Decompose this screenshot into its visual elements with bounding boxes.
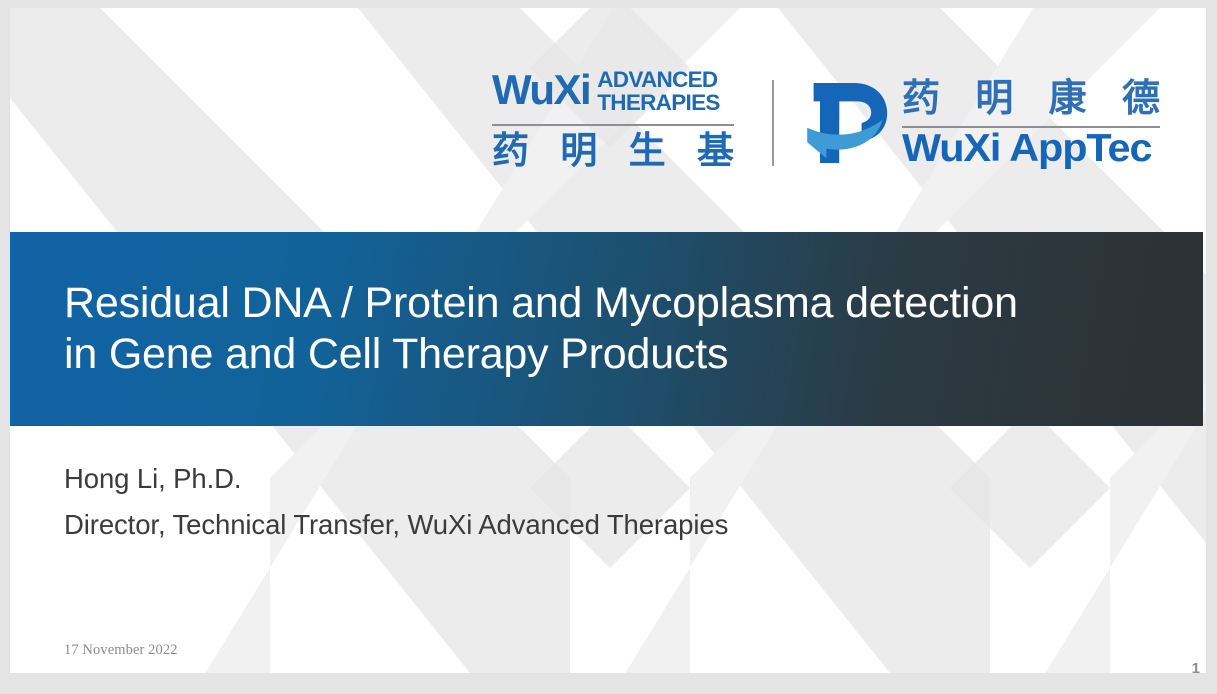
logo-group: WuXi ADVANCED THERAPIES 药 明 生 基	[480, 64, 1160, 182]
apptec-cn-char-3: 康	[1049, 74, 1087, 122]
page-title: Residual DNA / Protein and Mycoplasma de…	[10, 278, 1058, 380]
wat-cn-char-3: 生	[629, 127, 666, 175]
wuxi-advanced-therapies-logo: WuXi ADVANCED THERAPIES 药 明 生 基	[480, 67, 742, 179]
wat-chinese-name: 药 明 生 基	[492, 127, 734, 175]
logo-bar: WuXi ADVANCED THERAPIES 药 明 生 基	[10, 8, 1206, 232]
wat-subtitle-line2: THERAPIES	[597, 90, 719, 115]
apptec-cn-char-1: 药	[902, 74, 940, 122]
title-line-2: in Gene and Cell Therapy Products	[64, 330, 728, 378]
slide-page-number: 1	[1192, 660, 1200, 673]
presenter-role: Director, Technical Transfer, WuXi Advan…	[64, 502, 1064, 548]
presenter-block: Hong Li, Ph.D. Director, Technical Trans…	[64, 456, 1064, 548]
title-banner: Residual DNA / Protein and Mycoplasma de…	[10, 232, 1203, 426]
title-line-1: Residual DNA / Protein and Mycoplasma de…	[64, 279, 1018, 327]
wat-subtitle-line1: ADVANCED	[597, 67, 717, 92]
apptec-text-block: 药 明 康 德 WuXi AppTec	[902, 74, 1160, 172]
slide-viewport: WuXi ADVANCED THERAPIES 药 明 生 基	[0, 0, 1217, 694]
apptec-chinese-name: 药 明 康 德	[902, 74, 1160, 122]
footer-date: 17 November 2022	[64, 642, 178, 659]
wat-subtitle: ADVANCED THERAPIES	[597, 69, 719, 114]
wat-cn-char-2: 明	[560, 127, 597, 175]
apptec-p-mark-icon	[804, 75, 892, 171]
wat-cn-char-1: 药	[492, 127, 529, 175]
wat-wordmark: WuXi	[492, 67, 590, 113]
apptec-wordmark: WuXi AppTec	[902, 126, 1175, 172]
wat-divider-rule	[492, 124, 734, 126]
wat-cn-char-4: 基	[697, 127, 734, 175]
presenter-name: Hong Li, Ph.D.	[64, 456, 1064, 502]
wuxi-apptec-logo: 药 明 康 德 WuXi AppTec	[804, 67, 1160, 179]
apptec-cn-char-4: 德	[1122, 74, 1160, 122]
wat-top-row: WuXi ADVANCED THERAPIES	[480, 67, 742, 119]
apptec-cn-char-2: 明	[975, 74, 1013, 122]
presentation-slide: WuXi ADVANCED THERAPIES 药 明 生 基	[10, 8, 1206, 673]
logo-separator-line	[772, 80, 774, 166]
